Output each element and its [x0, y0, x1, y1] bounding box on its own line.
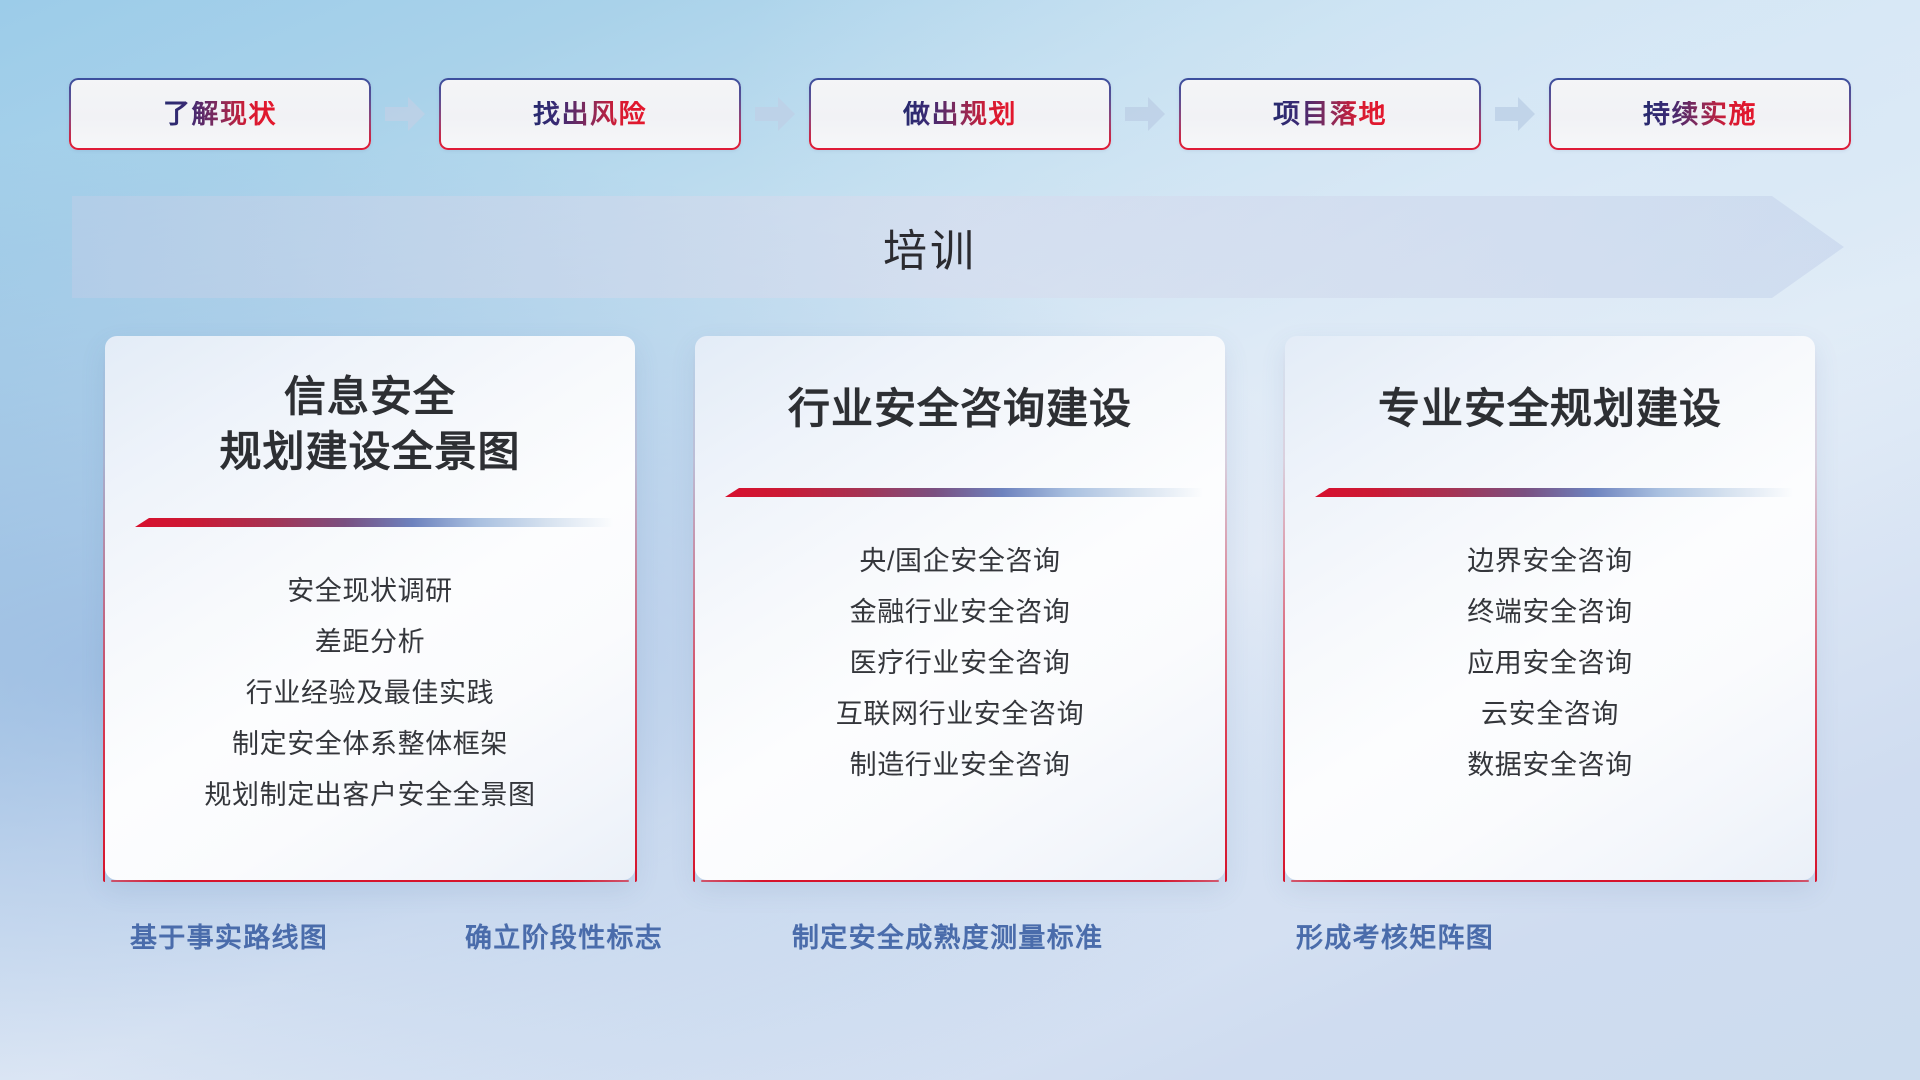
card-title-line: 行业安全咨询建设	[719, 382, 1201, 437]
card-divider	[1315, 488, 1793, 497]
step-arrow-icon	[1111, 78, 1179, 150]
footer-label-1: 基于事实路线图	[130, 916, 328, 960]
card-divider	[725, 488, 1203, 497]
card-red-accent	[1815, 344, 1817, 882]
card-list-item[interactable]: 安全现状调研	[105, 566, 635, 617]
card-title: 行业安全咨询建设	[695, 382, 1225, 437]
step-arrow-icon	[371, 78, 439, 150]
process-step-label: 项目落地	[1273, 101, 1387, 128]
card-red-accent	[701, 880, 1219, 882]
footer-label-row: 基于事实路线图确立阶段性标志制定安全成熟度测量标准形成考核矩阵图	[0, 916, 1920, 960]
card-list-item[interactable]: 应用安全咨询	[1285, 638, 1815, 689]
process-step-2[interactable]: 找出风险	[439, 78, 741, 150]
card-red-accent	[111, 880, 629, 882]
card-list-item[interactable]: 终端安全咨询	[1285, 587, 1815, 638]
process-step-label: 了解现状	[163, 101, 277, 128]
card-title-line: 专业安全规划建设	[1309, 382, 1791, 437]
card-list-item[interactable]: 医疗行业安全咨询	[695, 638, 1225, 689]
card-list-item[interactable]: 数据安全咨询	[1285, 740, 1815, 791]
card-list-item[interactable]: 央/国企安全咨询	[695, 536, 1225, 587]
process-step-label: 找出风险	[533, 101, 647, 128]
content-card-1[interactable]: 信息安全规划建设全景图安全现状调研差距分析行业经验及最佳实践制定安全体系整体框架…	[105, 336, 635, 880]
card-row: 信息安全规划建设全景图安全现状调研差距分析行业经验及最佳实践制定安全体系整体框架…	[0, 336, 1920, 880]
process-step-label: 做出规划	[903, 101, 1017, 128]
card-divider	[135, 518, 613, 527]
process-step-label: 持续实施	[1643, 101, 1757, 128]
card-item-list: 央/国企安全咨询金融行业安全咨询医疗行业安全咨询互联网行业安全咨询制造行业安全咨…	[695, 536, 1225, 791]
content-card-3[interactable]: 专业安全规划建设边界安全咨询终端安全咨询应用安全咨询云安全咨询数据安全咨询	[1285, 336, 1815, 880]
card-list-item[interactable]: 差距分析	[105, 617, 635, 668]
card-item-list: 安全现状调研差距分析行业经验及最佳实践制定安全体系整体框架规划制定出客户安全全景…	[105, 566, 635, 821]
card-list-item[interactable]: 金融行业安全咨询	[695, 587, 1225, 638]
card-list-item[interactable]: 云安全咨询	[1285, 689, 1815, 740]
content-card-2[interactable]: 行业安全咨询建设央/国企安全咨询金融行业安全咨询医疗行业安全咨询互联网行业安全咨…	[695, 336, 1225, 880]
card-red-accent	[1291, 880, 1809, 882]
process-step-1[interactable]: 了解现状	[69, 78, 371, 150]
step-arrow-icon	[741, 78, 809, 150]
card-list-item[interactable]: 制定安全体系整体框架	[105, 719, 635, 770]
banner-title: 培训	[72, 196, 1844, 298]
card-item-list: 边界安全咨询终端安全咨询应用安全咨询云安全咨询数据安全咨询	[1285, 536, 1815, 791]
card-list-item[interactable]: 规划制定出客户安全全景图	[105, 770, 635, 821]
process-step-3[interactable]: 做出规划	[809, 78, 1111, 150]
slide-canvas: 了解现状找出风险做出规划项目落地持续实施 培训 信息安全规划建设全景图安全现状调…	[0, 0, 1920, 1080]
card-red-accent	[1225, 344, 1227, 882]
step-arrow-icon	[1481, 78, 1549, 150]
footer-label-3: 制定安全成熟度测量标准	[792, 916, 1103, 960]
process-step-5[interactable]: 持续实施	[1549, 78, 1851, 150]
card-list-item[interactable]: 制造行业安全咨询	[695, 740, 1225, 791]
process-step-row: 了解现状找出风险做出规划项目落地持续实施	[0, 76, 1920, 152]
card-list-item[interactable]: 边界安全咨询	[1285, 536, 1815, 587]
card-title-line: 信息安全	[129, 370, 611, 425]
card-red-accent	[635, 344, 637, 882]
footer-label-2: 确立阶段性标志	[465, 916, 663, 960]
card-list-item[interactable]: 行业经验及最佳实践	[105, 668, 635, 719]
card-title: 专业安全规划建设	[1285, 382, 1815, 437]
training-banner: 培训	[72, 196, 1844, 298]
footer-label-4: 形成考核矩阵图	[1296, 916, 1494, 960]
card-title-line: 规划建设全景图	[129, 425, 611, 480]
process-step-4[interactable]: 项目落地	[1179, 78, 1481, 150]
card-title: 信息安全规划建设全景图	[105, 370, 635, 479]
card-list-item[interactable]: 互联网行业安全咨询	[695, 689, 1225, 740]
